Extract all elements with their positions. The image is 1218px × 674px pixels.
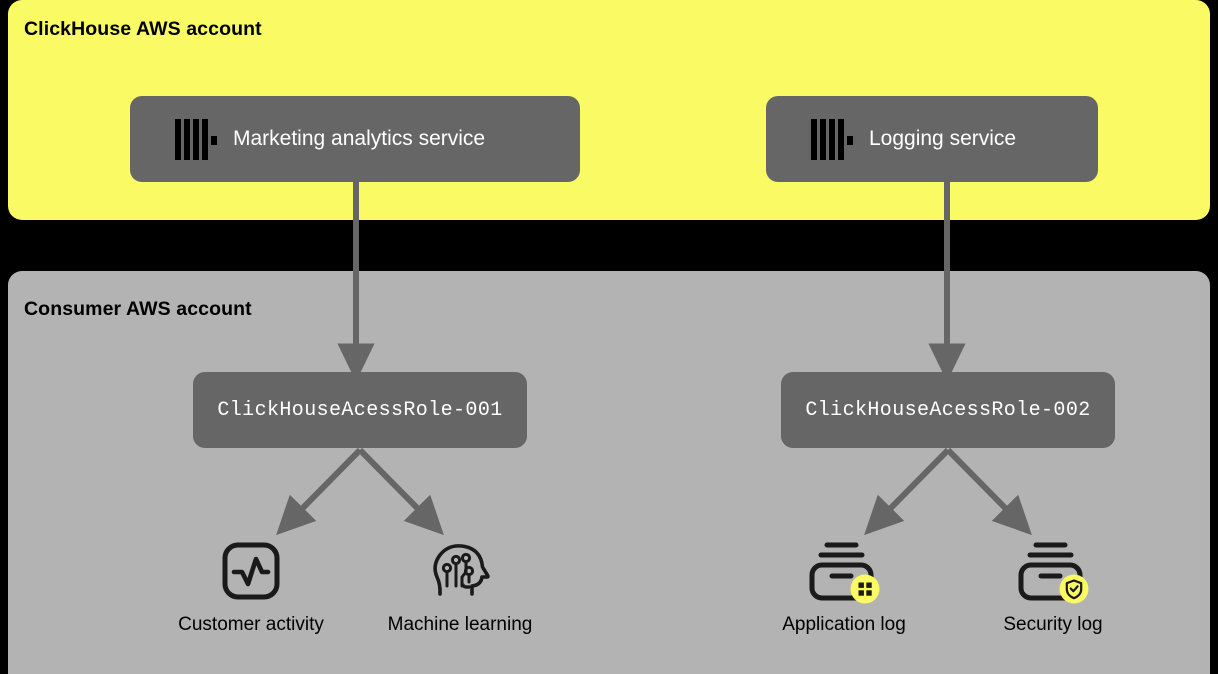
role-label-002: ClickHouseAcessRole-002 bbox=[805, 399, 1090, 422]
leaf-label-machine-learning: Machine learning bbox=[365, 614, 555, 636]
archive-box-icon bbox=[958, 540, 1148, 602]
leaf-label-application-log: Application log bbox=[749, 614, 939, 636]
leaf-label-security-log: Security log bbox=[958, 614, 1148, 636]
role-box-clickhouse-acess-role-002[interactable]: ClickHouseAcessRole-002 bbox=[781, 372, 1115, 448]
service-label-marketing-analytics: Marketing analytics service bbox=[233, 127, 485, 151]
leaf-label-customer-activity: Customer activity bbox=[156, 614, 346, 636]
role-label-001: ClickHouseAcessRole-001 bbox=[217, 399, 502, 422]
service-label-logging: Logging service bbox=[869, 127, 1016, 151]
grid-badge-icon bbox=[851, 575, 880, 604]
clickhouse-logo-icon bbox=[175, 119, 217, 160]
leaf-node-machine-learning[interactable]: Machine learning bbox=[365, 540, 555, 636]
leaf-node-application-log[interactable]: Application log bbox=[749, 540, 939, 636]
archive-box-icon bbox=[749, 540, 939, 602]
ai-head-icon bbox=[365, 540, 555, 602]
panel-title-clickhouse: ClickHouse AWS account bbox=[24, 18, 262, 41]
role-box-clickhouse-acess-role-001[interactable]: ClickHouseAcessRole-001 bbox=[193, 372, 527, 448]
diagram-canvas: ClickHouse AWS account Consumer AWS acco… bbox=[0, 0, 1218, 674]
leaf-node-security-log[interactable]: Security log bbox=[958, 540, 1148, 636]
panel-title-consumer: Consumer AWS account bbox=[24, 298, 252, 321]
service-box-logging[interactable]: Logging service bbox=[766, 96, 1098, 182]
clickhouse-logo-icon bbox=[811, 119, 853, 160]
leaf-node-customer-activity[interactable]: Customer activity bbox=[156, 540, 346, 636]
activity-monitor-icon bbox=[156, 540, 346, 602]
service-box-marketing-analytics[interactable]: Marketing analytics service bbox=[130, 96, 580, 182]
shield-check-badge-icon bbox=[1060, 575, 1089, 604]
